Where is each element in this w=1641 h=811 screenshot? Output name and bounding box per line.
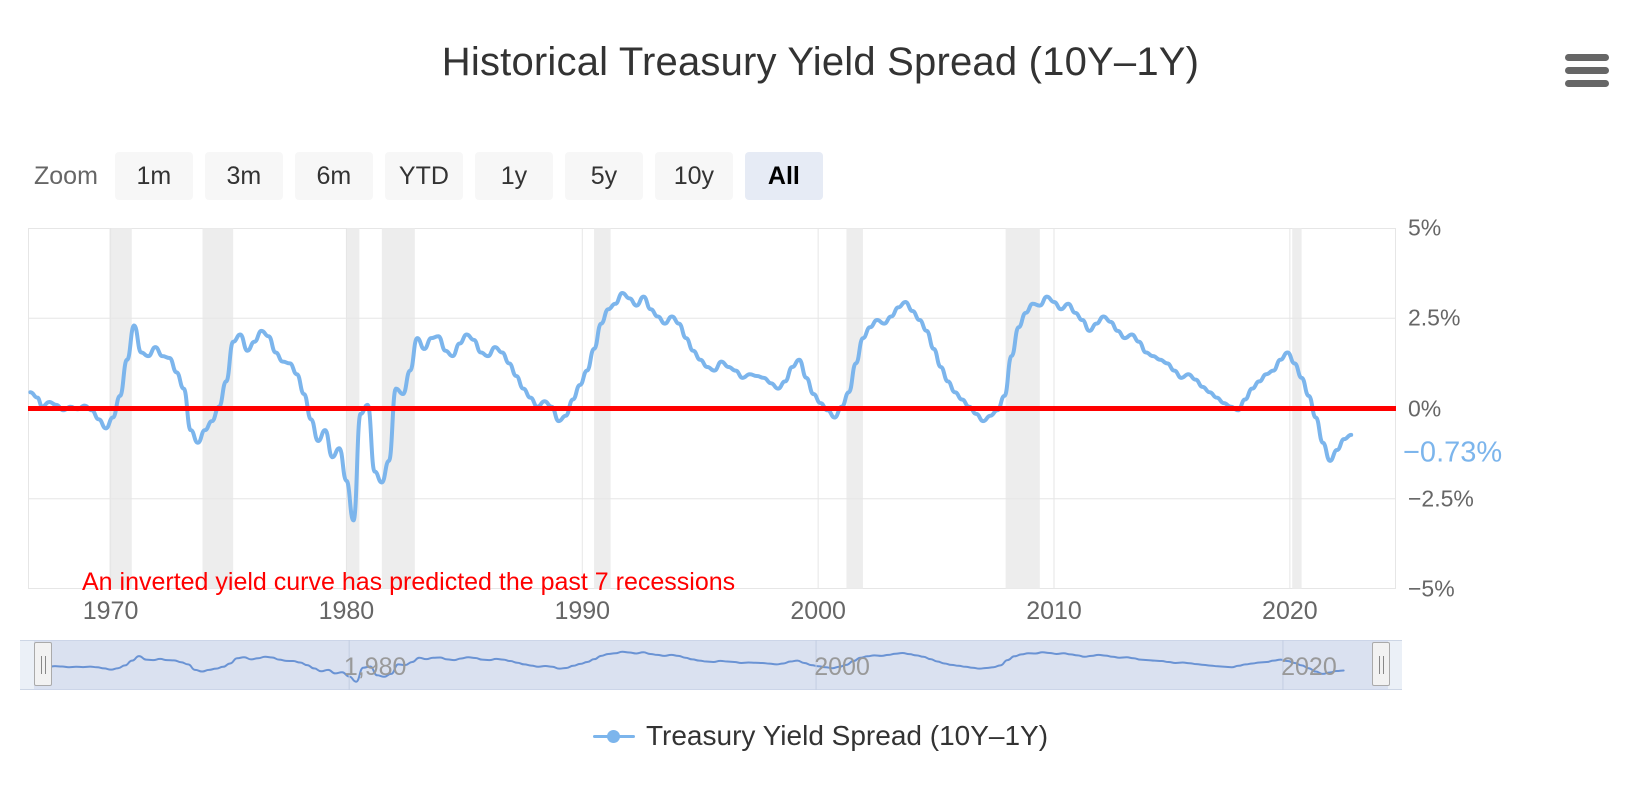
range-button-1y[interactable]: 1y <box>475 152 553 200</box>
y-axis-tick-label: 2.5% <box>1408 305 1460 332</box>
chart-title: Historical Treasury Yield Spread (10Y–1Y… <box>0 40 1641 85</box>
navigator-handle-left[interactable] <box>34 642 52 686</box>
navigator-handle-right[interactable] <box>1372 642 1390 686</box>
navigator-year-label: 2000 <box>814 653 870 682</box>
chart-annotation: An inverted yield curve has predicted th… <box>82 568 735 597</box>
navigator-series-line <box>36 652 1343 682</box>
navigator-series <box>20 640 1402 690</box>
x-axis-tick-label: 1970 <box>83 597 139 626</box>
navigator-year-label: 2020 <box>1281 653 1337 682</box>
handle-grip-line <box>1379 656 1380 674</box>
hamburger-menu-icon[interactable] <box>1561 48 1613 90</box>
range-button-group: 1m3m6mYTD1y5y10yAll <box>115 152 835 200</box>
stock-chart: Historical Treasury Yield Spread (10Y–1Y… <box>0 0 1641 811</box>
y-axis-tick-label: −5% <box>1408 576 1455 603</box>
range-button-5y[interactable]: 5y <box>565 152 643 200</box>
x-axis-tick-label: 2020 <box>1262 597 1318 626</box>
handle-grip-line <box>1383 656 1384 674</box>
range-button-3m[interactable]: 3m <box>205 152 283 200</box>
range-button-all[interactable]: All <box>745 152 823 200</box>
x-axis-tick-label: 1980 <box>319 597 375 626</box>
legend-marker-icon <box>593 727 635 745</box>
series-canvas <box>28 228 1396 589</box>
x-axis-tick-label: 2010 <box>1026 597 1082 626</box>
menu-bar-top <box>1565 54 1609 61</box>
menu-bar-middle <box>1565 67 1609 74</box>
legend-dot <box>607 730 620 743</box>
x-axis-tick-label: 1990 <box>554 597 610 626</box>
range-button-6m[interactable]: 6m <box>295 152 373 200</box>
y-axis-tick-label: 0% <box>1408 395 1441 422</box>
handle-grip-line <box>41 656 42 674</box>
y-axis-tick-label: 5% <box>1408 215 1441 242</box>
navigator[interactable]: 1,98020002020 <box>20 640 1402 690</box>
range-button-10y[interactable]: 10y <box>655 152 733 200</box>
legend-item-treasury-yield-spread[interactable]: Treasury Yield Spread (10Y–1Y) <box>0 720 1641 752</box>
x-axis-tick-label: 2000 <box>790 597 846 626</box>
range-button-1m[interactable]: 1m <box>115 152 193 200</box>
plot-area[interactable] <box>28 228 1396 589</box>
menu-bar-bottom <box>1565 80 1609 87</box>
range-selector: Zoom 1m3m6mYTD1y5y10yAll <box>34 152 835 200</box>
handle-grip-line <box>45 656 46 674</box>
range-selector-label: Zoom <box>34 162 98 191</box>
navigator-year-label: 1,980 <box>344 653 407 682</box>
y-axis-tick-label: −2.5% <box>1408 485 1474 512</box>
last-value-label: −0.73% <box>1403 436 1502 469</box>
range-button-ytd[interactable]: YTD <box>385 152 463 200</box>
legend-label: Treasury Yield Spread (10Y–1Y) <box>646 720 1048 752</box>
